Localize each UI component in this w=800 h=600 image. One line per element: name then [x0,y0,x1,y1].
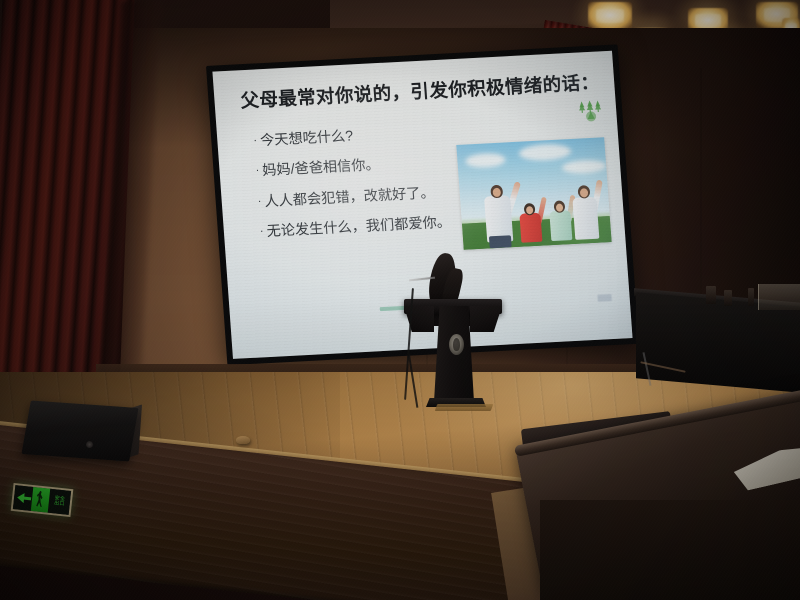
auditorium-photo: 父母最常对你说的，引发你积极情绪的话： ·今天想吃什么?·妈妈/爸爸相信你。·人… [0,0,800,600]
bullet-dot-icon: · [255,165,260,179]
exit-text-line2: 出口 [54,501,65,507]
photo-cloud-1 [465,152,506,168]
equipment-rack [758,284,800,310]
slide-title: 父母最常对你说的，引发你积极情绪的话： [240,73,569,112]
stage-monitor-driver [86,441,93,448]
green-tree-logo [577,97,604,122]
slide-bullet-list: ·今天想吃什么?·妈妈/爸爸相信你。·人人都会犯错，改就好了。·无论发生什么，我… [253,122,476,254]
clouds-group [456,137,604,145]
stage-monitor-speaker [21,400,138,461]
slide-footer-mark-left [380,306,406,311]
slide-bullet-2: ·妈妈/爸爸相信你。 [255,153,471,182]
equipment-item-2 [724,290,732,306]
photo-cloud-3 [562,159,607,174]
equipment-item-1 [706,286,716,304]
slide-bullet-text: 无论发生什么，我们都爱你。 [266,214,451,240]
small-floor-object [236,436,250,444]
podium-foot-plate [435,404,494,411]
running-man-icon [31,487,50,513]
foreground-desk-front [540,500,800,600]
slide-bullet-1: ·今天想吃什么? [253,122,469,151]
red-child-body [519,213,542,243]
equipment-item-3 [748,288,754,306]
slide-bullet-text: 今天想吃什么? [260,128,354,149]
bullet-dot-icon: · [257,195,262,209]
father-legs [489,235,512,248]
mother-body [572,197,599,240]
slide-bullet-3: ·人人都会犯错，改就好了。 [257,183,473,212]
exit-sign-text: 安全 出口 [48,489,71,515]
slide-bullet-text: 妈妈/爸爸相信你。 [262,157,380,179]
slide-family-photo [456,137,611,249]
slide-bullet-4: ·无论发生什么，我们都爱你。 [259,213,475,242]
photo-cloud-2 [519,143,572,162]
slide-footer-mark-right [597,294,611,302]
podium-emblem [449,334,464,355]
exit-sign-face: 安全 出口 [13,485,71,515]
mint-child-body [549,210,572,241]
bullet-dot-icon: · [253,134,258,148]
bullet-dot-icon: · [260,225,265,239]
slide-bullet-text: 人人都会犯错，改就好了。 [264,185,435,210]
